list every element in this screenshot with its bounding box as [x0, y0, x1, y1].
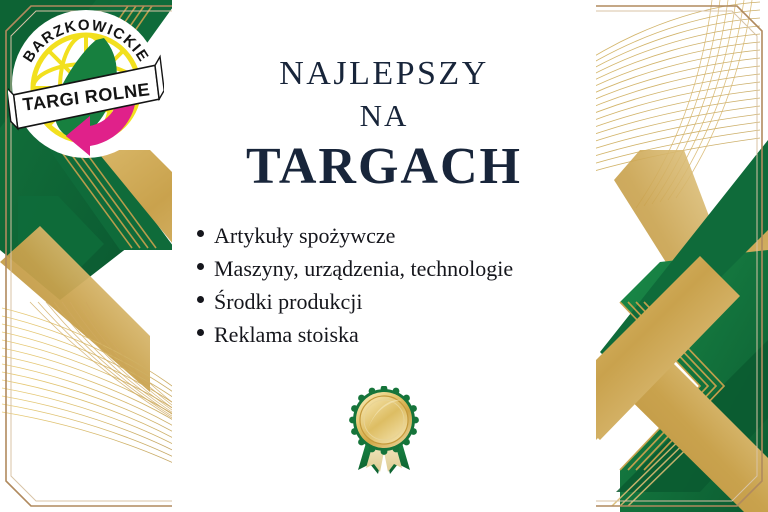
headline-line-2: NA: [172, 94, 596, 138]
list-item-label: Środki produkcji: [214, 289, 363, 314]
guilloche-top-right-vertical: [636, 0, 752, 208]
category-list-items: Artykuły spożywcze Maszyny, urządzenia, …: [196, 219, 596, 351]
bullet-dot-icon: [197, 263, 204, 270]
headline-line-1: NAJLEPSZY: [172, 54, 596, 94]
headline-line-3: TARGACH: [172, 138, 596, 196]
category-list: Artykuły spożywcze Maszyny, urządzenia, …: [196, 219, 596, 351]
bullet-dot-icon: [197, 230, 204, 237]
list-item: Reklama stoiska: [214, 318, 596, 351]
list-item-label: Maszyny, urządzenia, technologie: [214, 256, 513, 281]
bullet-dot-icon: [197, 329, 204, 336]
list-item-label: Artykuły spożywcze: [214, 223, 395, 248]
list-item: Środki produkcji: [214, 285, 596, 318]
list-item: Maszyny, urządzenia, technologie: [214, 252, 596, 285]
award-rosette-icon: [344, 386, 424, 478]
barzkowickie-targi-rolne-logo: BARZKOWICKIE: [8, 8, 164, 160]
certificate-canvas: BARZKOWICKIE: [0, 0, 768, 512]
headline-block: NAJLEPSZY NA TARGACH: [172, 54, 596, 196]
bullet-dot-icon: [197, 296, 204, 303]
list-item-label: Reklama stoiska: [214, 322, 359, 347]
list-item: Artykuły spożywcze: [214, 219, 596, 252]
